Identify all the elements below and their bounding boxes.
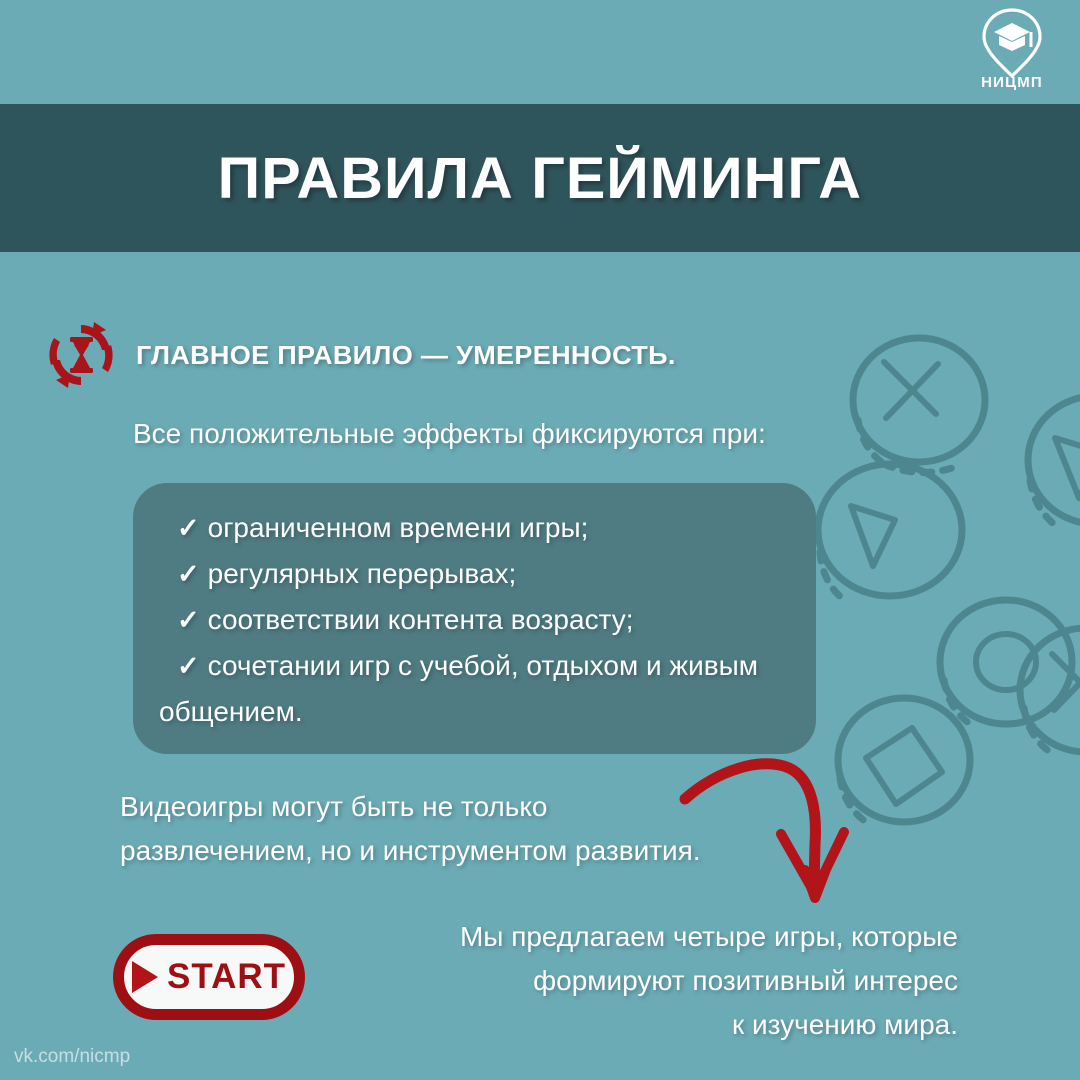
checklist-item: ✓ограниченном времени игры; (159, 505, 790, 551)
checklist-item-label: регулярных перерывах; (208, 558, 517, 589)
closing-left-line-1: Видеоигры могут быть не только (120, 785, 701, 829)
checklist-item: ✓регулярных перерывах; (159, 551, 790, 597)
page-title: ПРАВИЛА ГЕЙМИНГА (218, 145, 862, 212)
closing-paragraph-right: Мы предлагаем четыре игры, которые форми… (358, 915, 958, 1047)
map-pin-graduation-cap-icon (966, 6, 1058, 78)
start-button-label: START (167, 957, 286, 997)
closing-right-line-3: к изучению мира. (358, 1003, 958, 1047)
checklist-card: ✓ограниченном времени игры; ✓регулярных … (133, 483, 816, 754)
closing-left-line-2: развлечением, но и инструментом развития… (120, 829, 701, 873)
deco-cross-button-lower (1020, 628, 1080, 752)
intro-line: Все положительные эффекты фиксируются пр… (133, 418, 766, 450)
main-rule-row: ГЛАВНОЕ ПРАВИЛО — УМЕРЕННОСТЬ. (44, 318, 655, 392)
deco-triangle-button-right (1028, 396, 1080, 526)
checklist-item-label: соответствии контента возрасту; (208, 604, 634, 635)
closing-right-line-1: Мы предлагаем четыре игры, которые (358, 915, 958, 959)
start-button[interactable]: START (113, 934, 305, 1020)
main-rule-label: ГЛАВНОЕ ПРАВИЛО — УМЕРЕННОСТЬ. (136, 340, 676, 371)
brand-logo-text: НИЦМП (966, 74, 1058, 91)
footer-link[interactable]: vk.com/nicmp (14, 1046, 130, 1068)
checklist-item: ✓сочетании игр с учебой, отдыхом и живым… (159, 643, 790, 734)
hourglass-rotate-icon (44, 318, 118, 392)
play-triangle-icon (132, 961, 158, 993)
check-icon: ✓ (177, 559, 200, 589)
checklist: ✓ограниченном времени игры; ✓регулярных … (159, 505, 790, 734)
check-icon: ✓ (177, 513, 200, 543)
checklist-item-label: ограниченном времени игры; (208, 512, 589, 543)
check-icon: ✓ (177, 605, 200, 635)
checklist-item-label: сочетании игр с учебой, отдыхом и живым … (159, 650, 758, 727)
check-icon: ✓ (177, 651, 200, 681)
curved-down-arrow-icon (655, 752, 870, 917)
deco-triangle-button (818, 464, 962, 600)
top-strip: НИЦМП (0, 0, 1080, 104)
checklist-item: ✓соответствии контента возрасту; (159, 597, 790, 643)
deco-circle-button (940, 600, 1072, 724)
brand-logo: НИЦМП (966, 6, 1058, 98)
closing-right-line-2: формируют позитивный интерес (358, 959, 958, 1003)
title-band: ПРАВИЛА ГЕЙМИНГА (0, 104, 1080, 252)
closing-paragraph-left: Видеоигры могут быть не только развлечен… (120, 785, 701, 873)
deco-cross-button (853, 338, 985, 473)
poster-canvas: НИЦМП ПРАВИЛА ГЕЙМИНГА ГЛАВНОЕ ПРАВИЛО —… (0, 0, 1080, 1080)
